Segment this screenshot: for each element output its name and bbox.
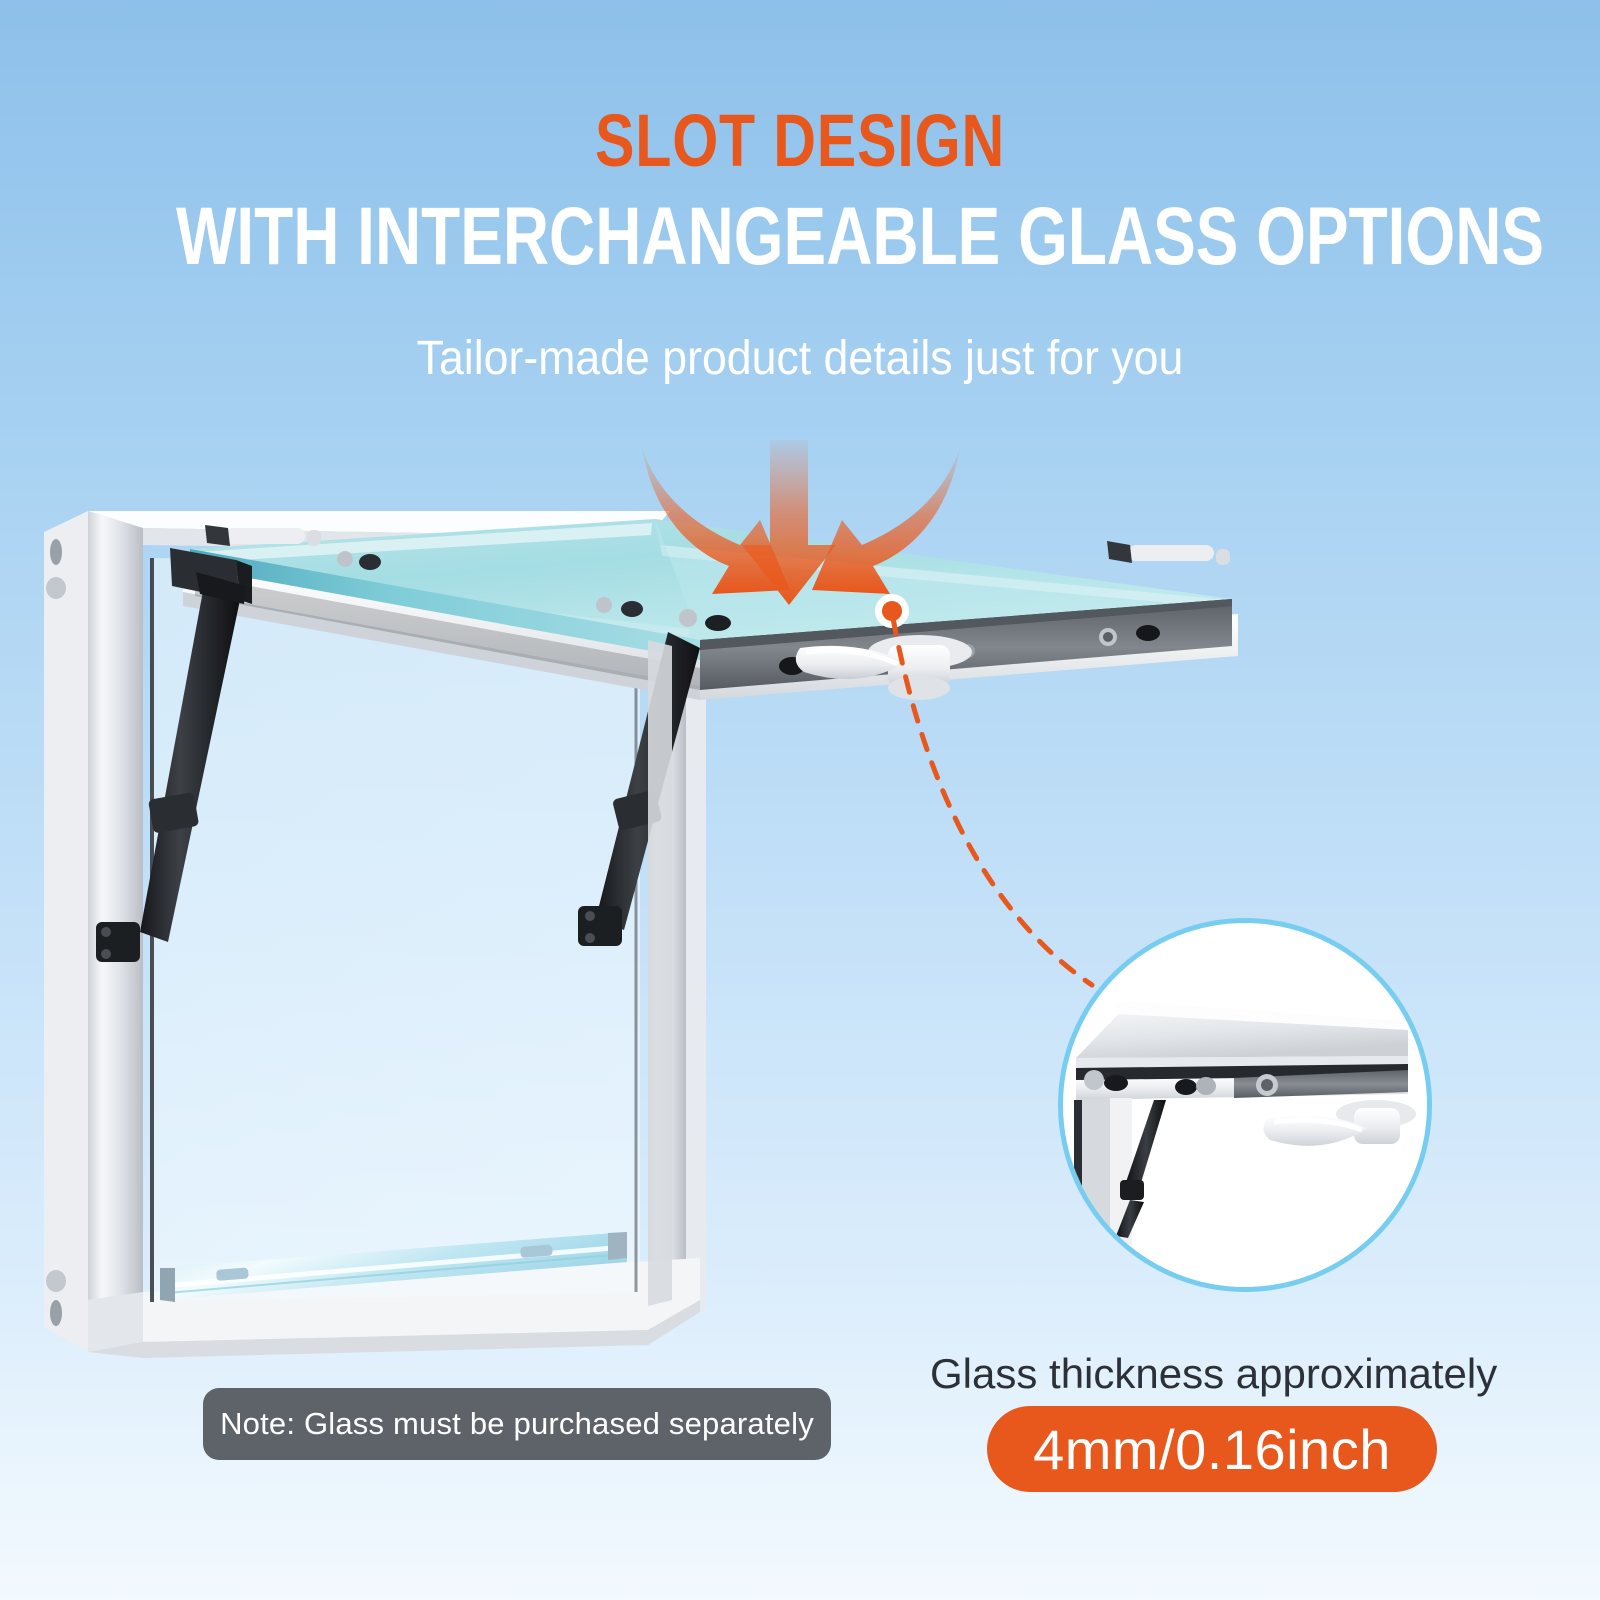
marketing-image-canvas: SLOT DESIGN WITH INTERCHANGEABLE GLASS O… [0,0,1600,1600]
magnified-detail-circle [1058,918,1432,1292]
glass-thickness-value-pill: 4mm/0.16inch [987,1406,1437,1492]
glass-thickness-label: Glass thickness approximately [930,1350,1490,1398]
glass-thickness-value: 4mm/0.16inch [1033,1417,1391,1482]
callout-origin-marker [875,594,909,628]
note-text: Note: Glass must be purchased separately [220,1406,814,1442]
note-badge: Note: Glass must be purchased separately [203,1388,831,1460]
